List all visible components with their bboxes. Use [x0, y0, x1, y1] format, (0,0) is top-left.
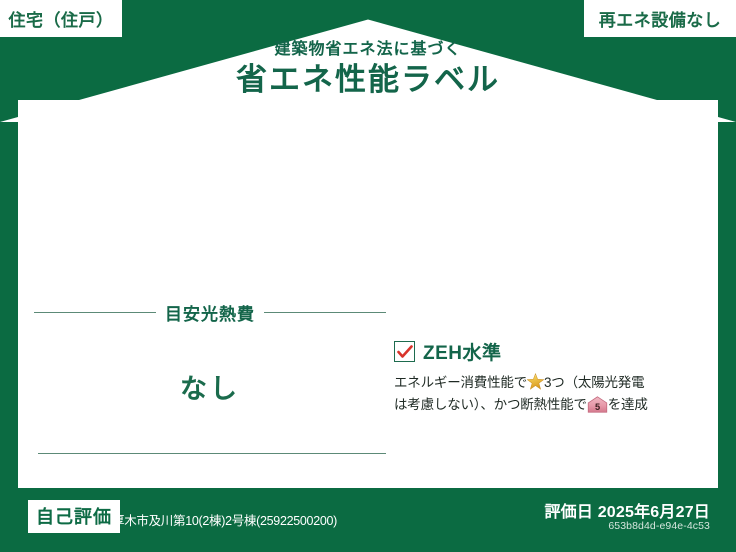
house-icon: 5	[587, 396, 608, 413]
building-name: 厚木市及川第10(2棟)2号棟(25922500200)	[112, 510, 337, 529]
estimated-utility-cost-heading: 目安光熱費	[165, 300, 255, 325]
estimated-utility-cost-value: なし	[34, 367, 386, 406]
zeh-desc-part2: 3つ（太陽光発電	[544, 375, 644, 390]
zeh-desc-part3: は考慮しない）、かつ断熱性能で	[394, 397, 587, 412]
svg-text:5: 5	[595, 402, 600, 412]
label-title: 省エネ性能ラベル	[0, 61, 736, 100]
zeh-title: ZEH水準	[423, 338, 502, 365]
divider-bottom	[38, 453, 386, 454]
building-type-tag-label: 住宅（住戸）	[9, 6, 114, 31]
evaluation-date: 評価日 2025年6月27日	[544, 498, 710, 522]
evaluation-id: 653b8d4d-e94e-4c53	[608, 520, 710, 532]
zeh-checkbox	[394, 341, 415, 362]
star-icon	[527, 373, 544, 390]
estimated-utility-cost-heading-row: 目安光熱費	[34, 300, 386, 325]
renewable-energy-tag-label: 再エネ設備なし	[599, 6, 722, 31]
zeh-desc-part1: エネルギー消費性能で	[394, 375, 527, 390]
energy-performance-label: 住宅（住戸） 再エネ設備なし 建築物省エネ法に基づく 省エネ性能ラベル エネルギ…	[0, 0, 736, 552]
zeh-desc-part4: を達成	[608, 397, 648, 412]
zeh-title-row: ZEH水準	[394, 338, 706, 365]
divider-right	[264, 312, 386, 313]
evaluation-date-label: 評価日	[544, 504, 593, 521]
zeh-description: エネルギー消費性能で3つ（太陽光発電は考慮しない）、かつ断熱性能で5を達成	[394, 372, 706, 416]
label-subtitle: 建築物省エネ法に基づく	[0, 40, 736, 59]
label-header: 建築物省エネ法に基づく 省エネ性能ラベル	[0, 40, 736, 100]
self-evaluation-badge: 自己評価	[28, 500, 120, 533]
estimated-utility-cost-section: 目安光熱費 なし	[34, 300, 386, 476]
label-footer: 自己評価 厚木市及川第10(2棟)2号棟(25922500200) 評価日 20…	[0, 488, 736, 552]
evaluation-date-value: 2025年6月27日	[598, 504, 710, 521]
building-type-tag: 住宅（住戸）	[0, 0, 122, 37]
renewable-energy-tag: 再エネ設備なし	[584, 0, 736, 37]
zeh-standard-section: ZEH水準 エネルギー消費性能で3つ（太陽光発電は考慮しない）、かつ断熱性能で5…	[394, 338, 706, 416]
divider-left	[34, 312, 156, 313]
check-icon	[397, 345, 413, 359]
